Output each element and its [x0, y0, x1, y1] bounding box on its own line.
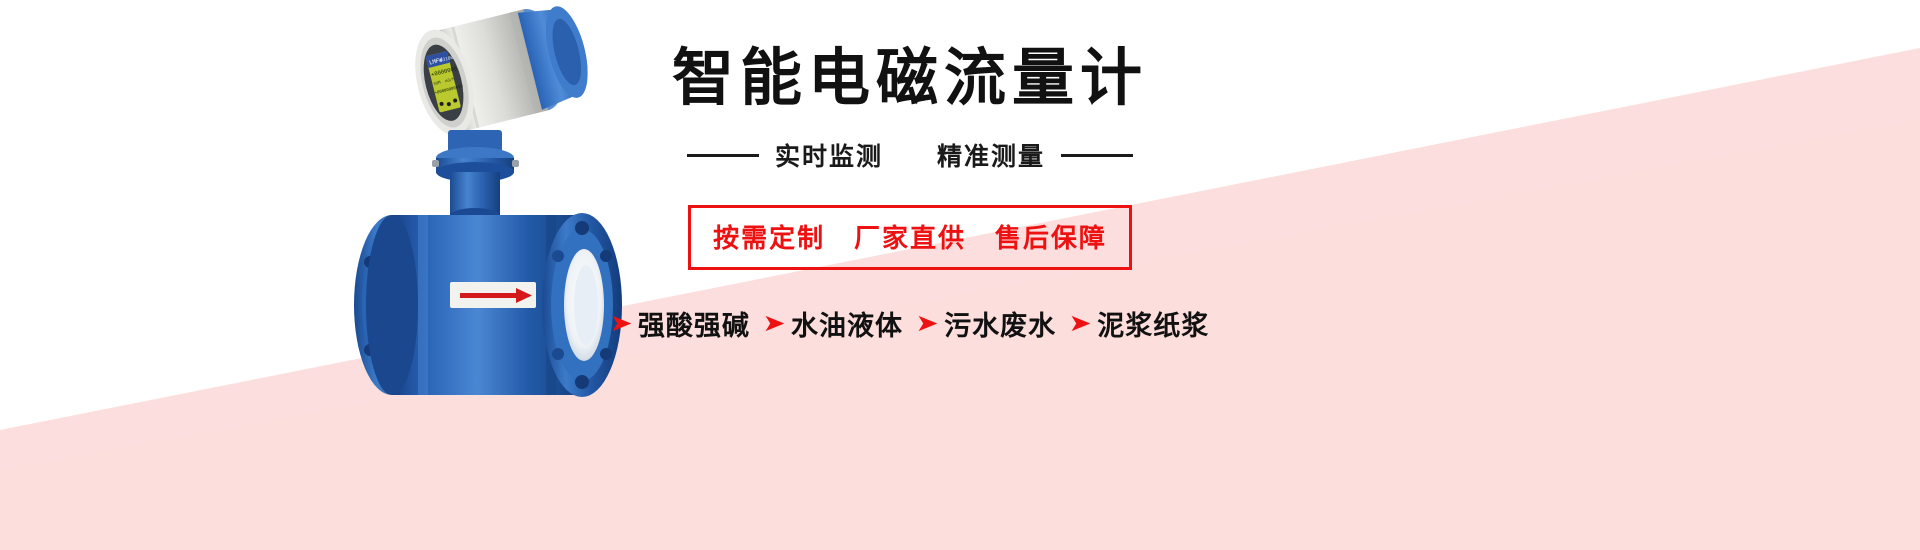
subtitle-row: 实时监测 精准测量 — [687, 137, 1133, 173]
status-badge: 按需定制 厂家直供 售后保障 — [688, 205, 1132, 270]
subtitle-left: 实时监测 — [775, 137, 883, 173]
feature-item-3: ➤ 污水废水 — [917, 304, 1056, 343]
arrow-right-icon: ➤ — [1069, 312, 1092, 336]
badge-item-3: 售后保障 — [995, 223, 1107, 253]
product-banner: LMFW 03100 +0000000 SUM m3/h +0000000000… — [0, 0, 1920, 550]
feature-label: 水油液体 — [791, 304, 903, 343]
page-title: 智能电磁流量计 — [672, 46, 1148, 111]
feature-item-4: ➤ 泥浆纸浆 — [1070, 304, 1209, 343]
badge-item-2: 厂家直供 — [854, 223, 966, 253]
banner-copy: 智能电磁流量计 实时监测 精准测量 按需定制 厂家直供 售后保障 ➤ 强酸强碱 … — [600, 30, 1220, 380]
rule-right-icon — [1061, 154, 1133, 157]
rule-left-icon — [687, 154, 759, 157]
feature-item-2: ➤ 水油液体 — [764, 304, 903, 343]
feature-label: 强酸强碱 — [638, 304, 750, 343]
feature-list: ➤ 强酸强碱 ➤ 水油液体 ➤ 污水废水 ➤ 泥浆纸浆 — [611, 304, 1209, 343]
arrow-right-icon: ➤ — [915, 312, 938, 336]
subtitle-right: 精准测量 — [937, 137, 1045, 173]
feature-label: 污水废水 — [944, 304, 1056, 343]
feature-item-1: ➤ 强酸强碱 — [611, 304, 750, 343]
badge-item-1: 按需定制 — [713, 223, 825, 253]
feature-label: 泥浆纸浆 — [1097, 304, 1209, 343]
arrow-right-icon: ➤ — [762, 312, 785, 336]
arrow-right-icon: ➤ — [609, 312, 632, 336]
